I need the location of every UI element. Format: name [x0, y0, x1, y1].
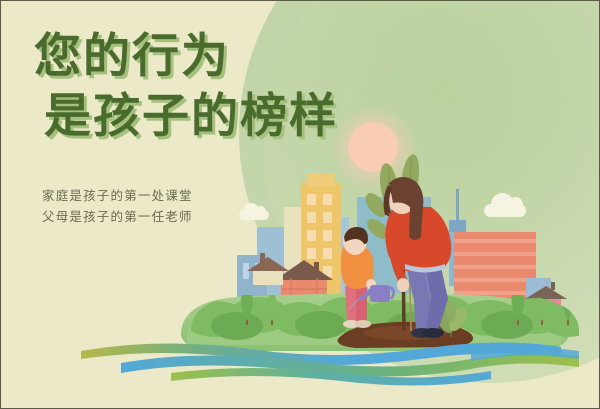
boy-shoe-front — [355, 320, 371, 328]
antenna-mast-icon — [456, 189, 459, 221]
headline-line-1: 您的行为 — [34, 33, 338, 81]
woman-hand — [397, 278, 409, 292]
cloud-left-icon — [239, 210, 269, 220]
subtitle-block: 家庭是孩子的第一处课堂 父母是孩子的第一任老师 — [42, 185, 193, 228]
headline-block: 您的行为 是孩子的榜样 — [34, 33, 338, 141]
headline-line-2: 是孩子的榜样 — [44, 93, 338, 141]
building-yellow-cap — [307, 173, 335, 187]
cloud-right-icon — [484, 204, 526, 217]
antenna-base — [449, 220, 466, 232]
subtitle-line-1: 家庭是孩子的第一处课堂 — [42, 185, 193, 206]
woman-shoe-front — [422, 328, 444, 338]
poster-canvas: 您的行为 是孩子的榜样 家庭是孩子的第一处课堂 父母是孩子的第一任老师 — [0, 0, 600, 409]
subtitle-line-2: 父母是孩子的第一任老师 — [42, 206, 193, 227]
boy-leg-front — [356, 285, 367, 323]
